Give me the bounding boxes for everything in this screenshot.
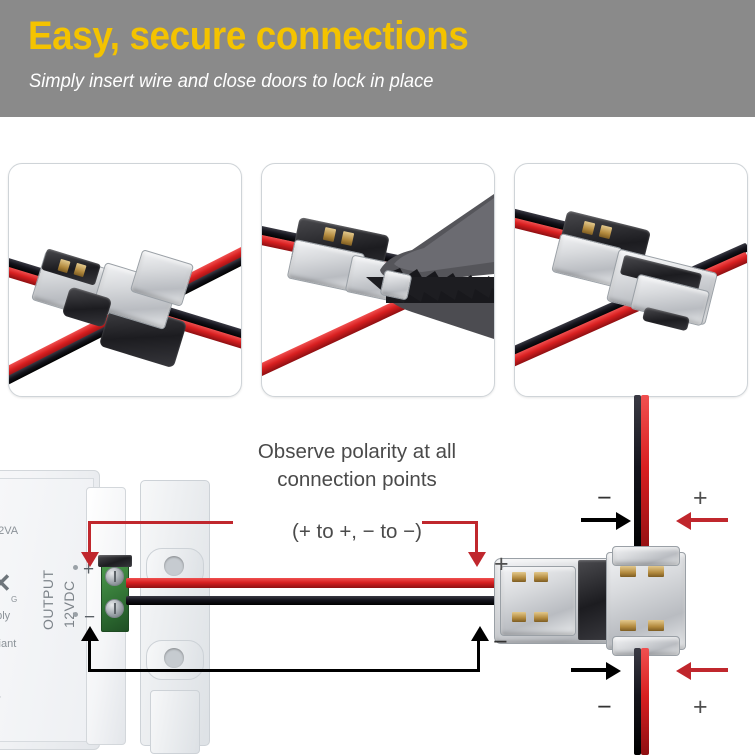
psu-logo-sub: G	[11, 595, 17, 604]
instruction-line-2: connection points	[232, 468, 482, 492]
psu-label-bottom: T	[0, 695, 1, 707]
photo-close-doors-with-pliers	[262, 164, 494, 396]
arrow-shaft-red-bottom	[690, 668, 728, 672]
polarity-minus-mid: −	[493, 630, 508, 655]
psu-dot-plus	[73, 565, 78, 570]
arrowhead-up-black-psu	[81, 626, 99, 641]
psu-label-supply: pply	[0, 610, 10, 622]
psu-logo: ✕	[0, 570, 12, 596]
instruction-line-1: Observe polarity at all	[232, 440, 482, 464]
arrowhead-down-red-psu	[81, 552, 99, 567]
arrowhead-left-red-top	[676, 512, 691, 530]
polarity-plus-bottom: +	[693, 695, 708, 720]
wire-black-bottom-feed	[634, 648, 641, 755]
polarity-plus-connector-in: +	[494, 552, 509, 577]
wire-black-psu-to-connector	[126, 596, 498, 605]
photo-card-close-doors	[261, 163, 495, 397]
psu-label-va: 12VA	[0, 525, 18, 537]
arrow-shaft-black-top	[581, 518, 617, 522]
wire-red-bottom-feed	[641, 648, 649, 755]
infographic-page: Easy, secure connections Simply insert w…	[0, 0, 755, 755]
terminal-screw-minus	[105, 599, 124, 618]
photo-insert-wire	[9, 164, 241, 396]
polarity-plus-top: +	[693, 486, 708, 511]
photo-locked-connection	[515, 164, 747, 396]
photo-card-insert-wire	[8, 163, 242, 397]
wire-red-top-feed	[641, 395, 649, 557]
polarity-minus-bottom: −	[597, 695, 612, 720]
psu-dot-minus	[73, 612, 78, 617]
psu-terminal-minus-label: −	[84, 608, 95, 627]
wire-black-top-feed	[634, 395, 641, 557]
arrow-shaft-black-bottom	[571, 668, 607, 672]
psu-label-output: OUTPUT	[40, 569, 56, 630]
arrowhead-left-red-bottom	[676, 662, 691, 680]
terminal-screw-plus	[105, 567, 124, 586]
psu-label-voltage: 12VDC	[61, 580, 77, 628]
wire-red-psu-to-connector	[126, 578, 498, 588]
arrowhead-up-black-connector	[471, 626, 489, 641]
page-title: Easy, secure connections	[28, 14, 468, 59]
psu-label-compliant: pliant	[0, 638, 16, 650]
photo-card-locked-connection	[514, 163, 748, 397]
arrowhead-right-black-bottom	[606, 662, 621, 680]
pliers-icon	[262, 164, 494, 396]
header-banner: Easy, secure connections Simply insert w…	[0, 0, 755, 117]
arrowhead-down-red-connector	[468, 552, 486, 567]
polarity-minus-top: −	[597, 486, 612, 511]
page-subtitle: Simply insert wire and close doors to lo…	[29, 70, 433, 93]
arrowhead-right-black-top	[616, 512, 631, 530]
arrow-shaft-red-top	[690, 518, 728, 522]
